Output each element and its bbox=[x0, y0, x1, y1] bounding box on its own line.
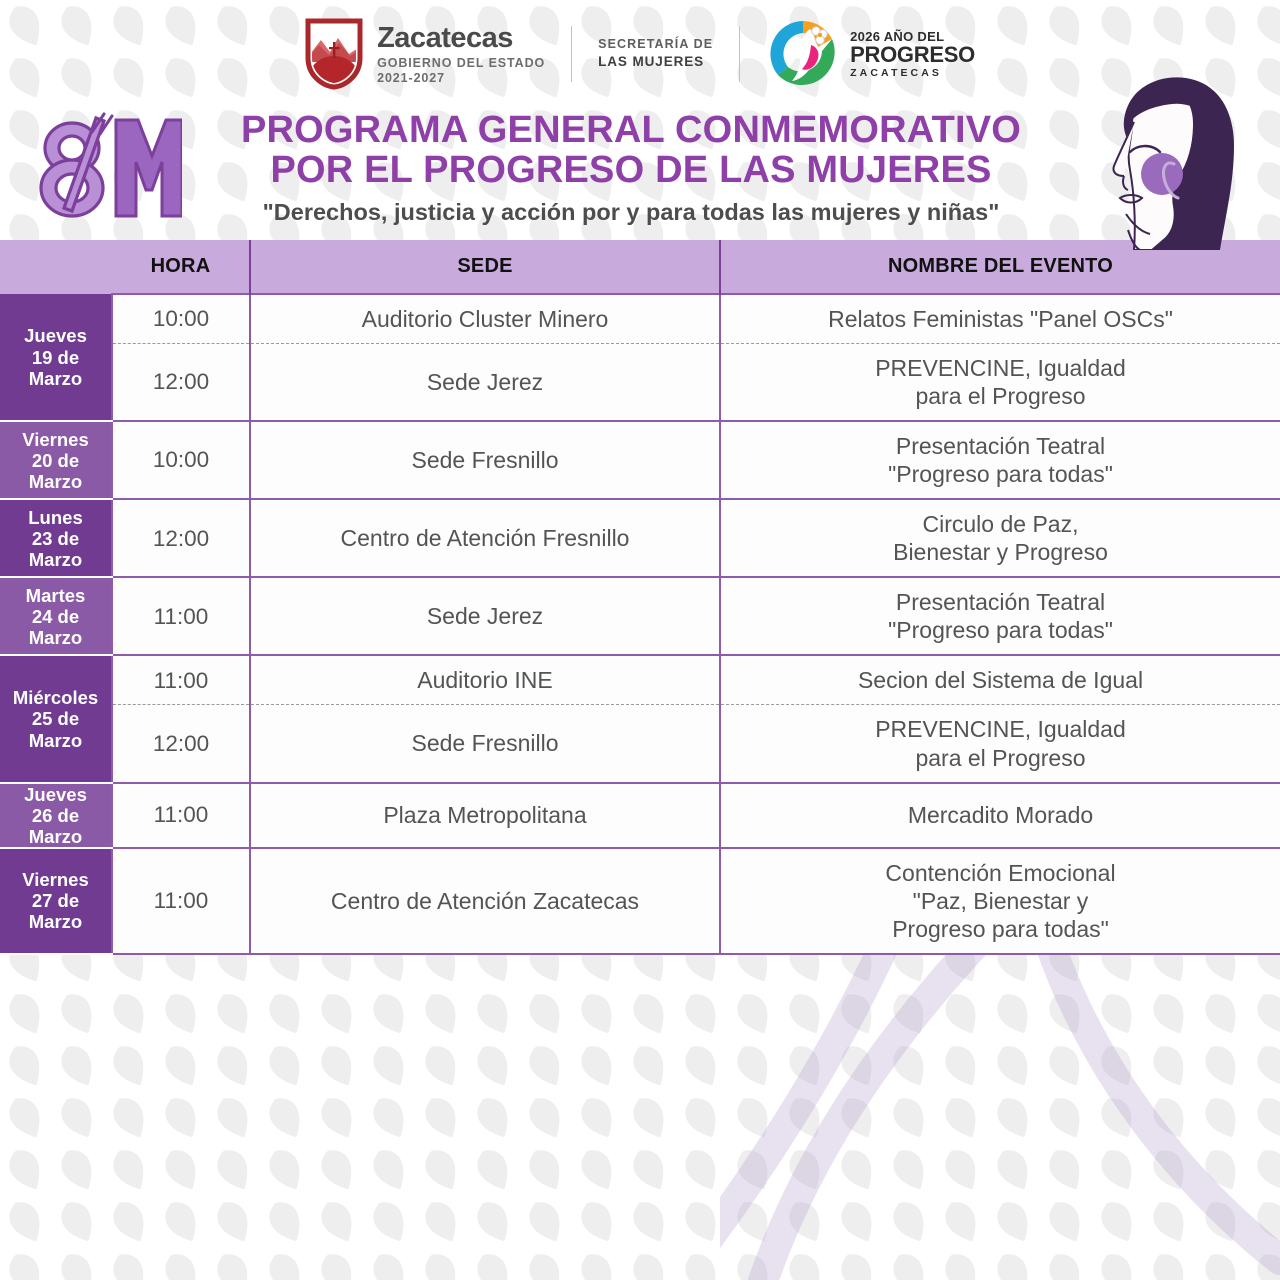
evento-cell: Circulo de Paz,Bienestar y Progreso bbox=[720, 499, 1280, 577]
evento-line: "Progreso para todas" bbox=[733, 460, 1268, 488]
schedule-body: Jueves19 deMarzo10:00Auditorio Cluster M… bbox=[0, 294, 1280, 954]
gov-name: Zacatecas bbox=[377, 24, 545, 53]
day-line: Marzo bbox=[2, 549, 109, 570]
secretaria-de-las-mujeres-logo: SECRETARÍA DE LAS MUJERES bbox=[598, 36, 713, 71]
day-line: Jueves bbox=[2, 325, 109, 346]
table-row: Jueves26 deMarzo11:00Plaza Metropolitana… bbox=[0, 783, 1280, 848]
gov-subtitle: GOBIERNO DEL ESTADO bbox=[377, 57, 545, 70]
evento-line: Presentación Teatral bbox=[733, 432, 1268, 460]
day-line: Marzo bbox=[2, 368, 109, 389]
sede-cell: Plaza Metropolitana bbox=[250, 783, 720, 848]
sede-cell: Sede Jerez bbox=[250, 344, 720, 422]
hora-cell: 12:00 bbox=[112, 344, 250, 422]
day-line: 26 de bbox=[2, 805, 109, 826]
day-line: 25 de bbox=[2, 708, 109, 729]
day-line: Marzo bbox=[2, 730, 109, 751]
day-cell: Viernes20 deMarzo bbox=[0, 421, 112, 499]
progreso-line1: 2026 AÑO DEL bbox=[850, 30, 975, 43]
title-band: PROGRAMA GENERAL CONMEMORATIVO POR EL PR… bbox=[0, 108, 1280, 240]
day-line: 20 de bbox=[2, 450, 109, 471]
hora-cell: 10:00 bbox=[112, 294, 250, 344]
evento-line: Relatos Feministas "Panel OSCs" bbox=[733, 305, 1268, 333]
evento-line: para el Progreso bbox=[733, 744, 1268, 772]
hora-cell: 11:00 bbox=[112, 577, 250, 655]
evento-cell: Relatos Feministas "Panel OSCs" bbox=[720, 294, 1280, 344]
day-line: Martes bbox=[2, 585, 109, 606]
day-line: Marzo bbox=[2, 826, 109, 847]
hora-cell: 12:00 bbox=[112, 499, 250, 577]
day-cell: Jueves26 deMarzo bbox=[0, 783, 112, 848]
evento-line: PREVENCINE, Igualdad bbox=[733, 354, 1268, 382]
sede-cell: Sede Jerez bbox=[250, 577, 720, 655]
evento-cell: Presentación Teatral"Progreso para todas… bbox=[720, 421, 1280, 499]
day-line: Marzo bbox=[2, 471, 109, 492]
progreso-line3: ZACATECAS bbox=[850, 68, 975, 79]
evento-line: "Paz, Bienestar y bbox=[733, 887, 1268, 915]
evento-line: Circulo de Paz, bbox=[733, 510, 1268, 538]
evento-line: Secion del Sistema de Igual bbox=[733, 666, 1268, 694]
evento-cell: PREVENCINE, Igualdadpara el Progreso bbox=[720, 705, 1280, 783]
table-row: Martes24 deMarzo11:00Sede JerezPresentac… bbox=[0, 577, 1280, 655]
hora-cell: 12:00 bbox=[112, 705, 250, 783]
day-cell: Lunes23 deMarzo bbox=[0, 499, 112, 577]
table-row: 12:00Sede JerezPREVENCINE, Igualdadpara … bbox=[0, 344, 1280, 422]
progreso-line2: PROGRESO bbox=[850, 44, 975, 66]
day-line: Lunes bbox=[2, 507, 109, 528]
hora-cell: 11:00 bbox=[112, 655, 250, 705]
evento-cell: Mercadito Morado bbox=[720, 783, 1280, 848]
schedule-table: HORA SEDE NOMBRE DEL EVENTO Jueves19 deM… bbox=[0, 240, 1280, 955]
zacatecas-government-logo: Zacatecas GOBIERNO DEL ESTADO 2021-2027 bbox=[305, 18, 545, 90]
evento-line: PREVENCINE, Igualdad bbox=[733, 715, 1268, 743]
day-cell: Jueves19 deMarzo bbox=[0, 294, 112, 421]
evento-cell: Presentación Teatral"Progreso para todas… bbox=[720, 577, 1280, 655]
table-row: Viernes27 deMarzo11:00Centro de Atención… bbox=[0, 848, 1280, 954]
page-subtitle: "Derechos, justicia y acción por y para … bbox=[182, 199, 1080, 226]
sede-cell: Auditorio INE bbox=[250, 655, 720, 705]
column-header-sede: SEDE bbox=[250, 240, 720, 294]
day-cell: Martes24 deMarzo bbox=[0, 577, 112, 655]
evento-line: Mercadito Morado bbox=[733, 801, 1268, 829]
table-row: Lunes23 deMarzo12:00Centro de Atención F… bbox=[0, 499, 1280, 577]
evento-line: Bienestar y Progreso bbox=[733, 538, 1268, 566]
evento-cell: Secion del Sistema de Igual bbox=[720, 655, 1280, 705]
evento-line: Presentación Teatral bbox=[733, 588, 1268, 616]
evento-line: para el Progreso bbox=[733, 382, 1268, 410]
day-line: 27 de bbox=[2, 890, 109, 911]
sede-cell: Centro de Atención Zacatecas bbox=[250, 848, 720, 954]
day-line: Marzo bbox=[2, 911, 109, 932]
sede-cell: Sede Fresnillo bbox=[250, 705, 720, 783]
hora-cell: 10:00 bbox=[112, 421, 250, 499]
dove-flower-circle-icon bbox=[766, 17, 840, 91]
day-line: 24 de bbox=[2, 606, 109, 627]
evento-line: Progreso para todas" bbox=[733, 915, 1268, 943]
secretaria-line2: LAS MUJERES bbox=[598, 53, 713, 71]
day-cell: Viernes27 deMarzo bbox=[0, 848, 112, 954]
page-title-line2: POR EL PROGRESO DE LAS MUJERES bbox=[182, 150, 1080, 190]
day-line: 19 de bbox=[2, 347, 109, 368]
secretaria-line1: SECRETARÍA DE bbox=[598, 36, 713, 53]
evento-cell: PREVENCINE, Igualdadpara el Progreso bbox=[720, 344, 1280, 422]
table-row: Miércoles25 deMarzo11:00Auditorio INESec… bbox=[0, 655, 1280, 705]
day-line: Viernes bbox=[2, 869, 109, 890]
column-header-hora: HORA bbox=[112, 240, 250, 294]
day-line: Miércoles bbox=[2, 687, 109, 708]
evento-cell: Contención Emocional"Paz, Bienestar yPro… bbox=[720, 848, 1280, 954]
column-header-day bbox=[0, 240, 112, 294]
evento-line: "Progreso para todas" bbox=[733, 616, 1268, 644]
ano-del-progreso-logo: 2026 AÑO DEL PROGRESO ZACATECAS bbox=[766, 17, 975, 91]
table-row: 12:00Sede FresnilloPREVENCINE, Igualdadp… bbox=[0, 705, 1280, 783]
sede-cell: Centro de Atención Fresnillo bbox=[250, 499, 720, 577]
zacatecas-shield-icon bbox=[305, 18, 363, 90]
day-line: Viernes bbox=[2, 429, 109, 450]
hora-cell: 11:00 bbox=[112, 848, 250, 954]
gov-years: 2021-2027 bbox=[377, 72, 545, 85]
table-row: Jueves19 deMarzo10:00Auditorio Cluster M… bbox=[0, 294, 1280, 344]
woman-profile-illustration-icon bbox=[1062, 72, 1252, 250]
day-line: Marzo bbox=[2, 627, 109, 648]
day-cell: Miércoles25 deMarzo bbox=[0, 655, 112, 782]
page-title-line1: PROGRAMA GENERAL CONMEMORATIVO bbox=[182, 110, 1080, 150]
eight-m-venus-icon bbox=[30, 112, 182, 224]
sede-cell: Auditorio Cluster Minero bbox=[250, 294, 720, 344]
day-line: Jueves bbox=[2, 784, 109, 805]
header-divider-2 bbox=[739, 26, 740, 82]
sede-cell: Sede Fresnillo bbox=[250, 421, 720, 499]
evento-line: Contención Emocional bbox=[733, 859, 1268, 887]
day-line: 23 de bbox=[2, 528, 109, 549]
hora-cell: 11:00 bbox=[112, 783, 250, 848]
header-divider-1 bbox=[571, 26, 572, 82]
table-row: Viernes20 deMarzo10:00Sede FresnilloPres… bbox=[0, 421, 1280, 499]
